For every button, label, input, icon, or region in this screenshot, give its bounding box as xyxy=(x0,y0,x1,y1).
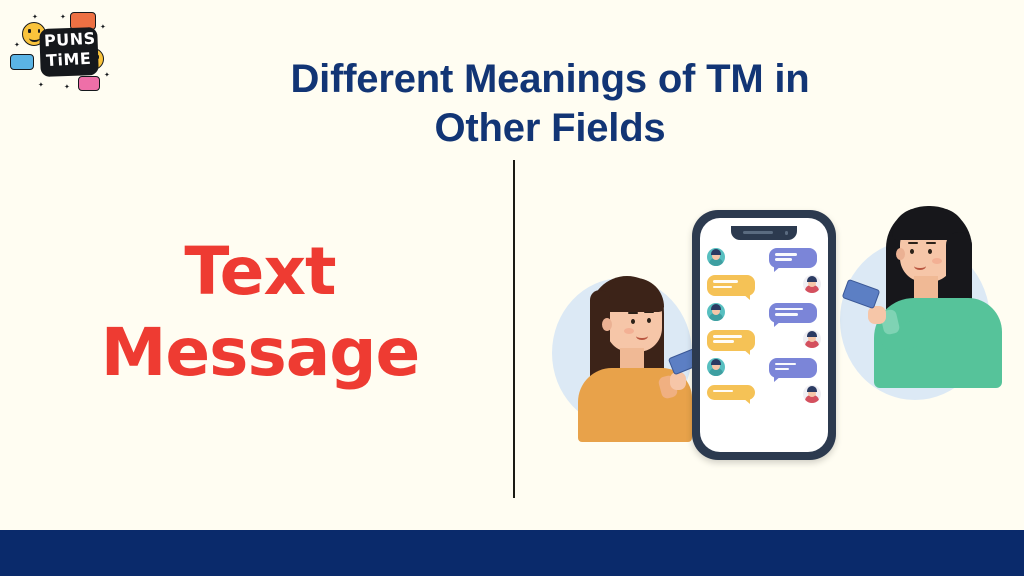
chat-bubble-yellow[interactable] xyxy=(707,275,755,295)
eye-right xyxy=(631,319,635,324)
chat-text-line xyxy=(775,308,803,311)
page-title-line-1: Different Meanings of TM in xyxy=(290,57,809,101)
avatar-hair xyxy=(711,359,721,365)
chat-avatar-red[interactable] xyxy=(803,330,821,348)
chat-text-line xyxy=(775,313,798,316)
hair-side xyxy=(590,290,610,376)
chat-text-line xyxy=(775,363,796,366)
chat-text-line xyxy=(775,368,789,371)
eye-left xyxy=(647,318,651,323)
eyebrow-left xyxy=(908,242,918,244)
headline-text-message: Text Message xyxy=(20,232,500,393)
chat-avatar-red[interactable] xyxy=(803,275,821,293)
phone-notch xyxy=(731,226,797,240)
chat-text-line xyxy=(713,286,732,289)
page-title-line-2: Other Fields xyxy=(435,106,666,150)
chat-message-row[interactable] xyxy=(707,303,821,323)
chat-avatar-teal[interactable] xyxy=(707,358,725,376)
sparkle-icon: ✦ xyxy=(38,82,44,89)
logo-text-time: TiME xyxy=(46,49,92,70)
cheek xyxy=(624,328,634,334)
bubble-tail xyxy=(743,398,750,404)
bubble-tail xyxy=(743,294,750,300)
avatar-hair xyxy=(807,276,817,282)
chat-text-line xyxy=(713,340,734,343)
avatar-hair xyxy=(711,304,721,310)
smartphone-mockup[interactable] xyxy=(692,210,836,460)
sparkle-icon: ✦ xyxy=(32,14,38,21)
eyebrow-right xyxy=(628,312,638,314)
bubble-tail xyxy=(774,266,781,272)
chat-avatar-red[interactable] xyxy=(803,385,821,403)
sparkle-icon: ✦ xyxy=(60,14,66,21)
slide-canvas: PUNS TiME ✦ ✦ ✦ ✦ ✦ ✦ ✦ Different Meanin… xyxy=(0,0,1024,576)
headline-line-2: Message xyxy=(20,313,500,394)
chat-message-row[interactable] xyxy=(707,275,821,295)
logo-speech-bubble-blue-icon xyxy=(10,54,34,70)
mouth xyxy=(914,262,926,270)
eyebrow-right xyxy=(926,242,936,244)
chat-message-row[interactable] xyxy=(707,330,821,350)
footer-bar xyxy=(0,530,1024,576)
ear xyxy=(896,248,905,260)
emoji-mouth xyxy=(29,34,40,42)
chat-message-row[interactable] xyxy=(707,358,821,378)
sparkle-icon: ✦ xyxy=(14,42,20,49)
chat-bubble-blue[interactable] xyxy=(769,303,817,323)
phone-screen[interactable] xyxy=(700,218,828,452)
hand xyxy=(670,372,686,390)
person-woman-orange-sweater xyxy=(562,276,712,436)
held-phone-icon xyxy=(842,279,881,309)
sparkle-icon: ✦ xyxy=(64,84,70,91)
bubble-tail xyxy=(774,376,781,382)
chat-text-line xyxy=(713,390,733,393)
chat-message-list[interactable] xyxy=(700,244,828,414)
logo-text-puns: PUNS xyxy=(44,29,97,51)
chat-bubble-blue[interactable] xyxy=(769,248,817,268)
sparkle-icon: ✦ xyxy=(104,72,110,79)
chat-text-line xyxy=(713,280,738,283)
avatar-hair xyxy=(807,331,817,337)
eye-left xyxy=(910,249,914,254)
bubble-tail xyxy=(743,349,750,355)
speaker-grille-icon xyxy=(743,231,773,234)
page-title: Different Meanings of TM in Other Fields xyxy=(150,55,950,153)
cheek xyxy=(932,258,942,264)
puns-time-logo[interactable]: PUNS TiME ✦ ✦ ✦ ✦ ✦ ✦ ✦ xyxy=(8,8,116,94)
chat-bubble-blue[interactable] xyxy=(769,358,817,378)
emoji-eye-left xyxy=(28,29,31,33)
chat-text-line xyxy=(775,258,792,261)
mouth xyxy=(636,332,648,340)
front-camera-icon xyxy=(785,231,789,235)
avatar-hair xyxy=(807,386,817,392)
chat-text-line xyxy=(775,253,797,256)
hand xyxy=(868,306,886,324)
chat-text-line xyxy=(713,335,742,338)
chat-message-row[interactable] xyxy=(707,248,821,268)
vertical-divider xyxy=(513,160,515,498)
avatar-hair xyxy=(711,249,721,255)
sparkle-icon: ✦ xyxy=(100,24,106,31)
texting-people-illustration xyxy=(540,190,1010,480)
person-woman-green-sweater xyxy=(846,206,1006,386)
chat-avatar-teal[interactable] xyxy=(707,248,725,266)
headline-line-1: Text xyxy=(20,232,500,313)
bubble-tail xyxy=(774,321,781,327)
eye-right xyxy=(928,249,932,254)
logo-speech-bubble-pink-icon xyxy=(78,76,100,91)
chat-message-row[interactable] xyxy=(707,385,821,403)
chat-avatar-teal[interactable] xyxy=(707,303,725,321)
chat-bubble-yellow[interactable] xyxy=(707,330,755,350)
ear xyxy=(602,318,612,331)
chat-bubble-yellow[interactable] xyxy=(707,385,755,400)
